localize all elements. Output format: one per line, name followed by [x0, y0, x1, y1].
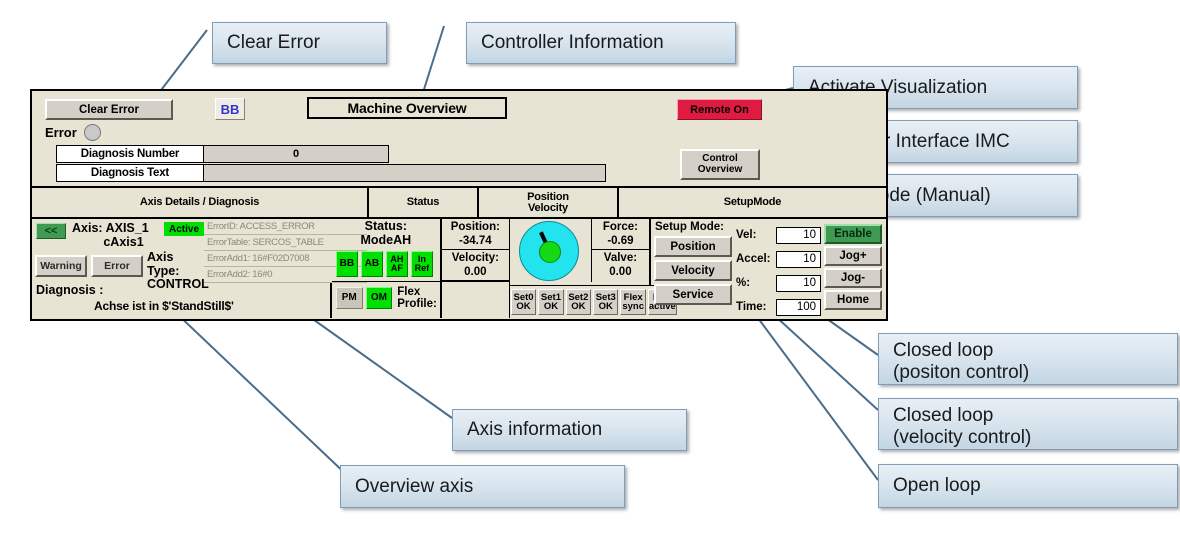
status-led-row-2: PM OM Flex Profile: [332, 281, 440, 310]
vel-input[interactable]: 10 [776, 227, 821, 244]
callout-label-line1: Closed loop [893, 405, 1177, 427]
status-value: ModeAH [332, 234, 440, 248]
force-cell: Force: -0.69 [592, 219, 649, 250]
led-in-ref[interactable]: In Ref [411, 251, 433, 277]
error-indicator-row: Error [45, 124, 101, 141]
gauge-wrap [510, 219, 592, 282]
axis-name-label: Axis: AXIS_1 [72, 221, 149, 235]
diagnosis-text-value [204, 164, 606, 182]
home-button[interactable]: Home [824, 290, 882, 310]
set3-button[interactable]: Set3 OK [593, 289, 618, 315]
hmi-tab-strip: Axis Details / Diagnosis Status Position… [32, 188, 886, 219]
control-overview-button[interactable]: Control Overview [680, 149, 760, 180]
setup-mode-buttons: Setup Mode: Position Velocity Service [654, 221, 736, 318]
percent-input[interactable]: 10 [776, 275, 821, 292]
callout-closed-loop-velocity: Closed loop (velocity control) [878, 398, 1178, 450]
setup-service-button[interactable]: Service [654, 284, 732, 305]
axis-type-label: Axis Type: [147, 251, 205, 278]
status-panel: Status: ModeAH BB AB AH AF In Ref [332, 219, 442, 318]
valve-value: 0.00 [592, 265, 649, 279]
velocity-value: 0.00 [442, 265, 509, 279]
callout-open-loop: Open loop [878, 464, 1178, 508]
control-overview-line1: Control [702, 154, 738, 165]
time-input[interactable]: 100 [776, 299, 821, 316]
flex-profile-line1: Flex [397, 286, 437, 298]
force-value: -0.69 [592, 234, 649, 248]
callout-label: Clear Error [227, 32, 320, 54]
diagnosis-text-label: Diagnosis Text [56, 164, 204, 182]
jog-plus-button[interactable]: Jog+ [824, 246, 882, 266]
diagnosis-number-value: 0 [204, 145, 389, 163]
velocity-cell: Velocity: 0.00 [442, 250, 509, 281]
axis-type-value: CONTROL [147, 278, 205, 292]
callout-label-line2: (positon control) [893, 362, 1177, 384]
axis-details-panel: << Axis: AXIS_1 cAxis1 Active ErrorID: A… [32, 219, 332, 318]
flexsync-line2: sync [622, 302, 644, 312]
callout-closed-loop-position: Closed loop (positon control) [878, 333, 1178, 385]
tab-setup-mode[interactable]: SetupMode [619, 188, 886, 217]
set3-line2: OK [599, 302, 613, 312]
control-overview-line2: Overview [698, 165, 742, 176]
jog-minus-button[interactable]: Jog- [824, 268, 882, 288]
warning-button[interactable]: Warning [35, 255, 87, 277]
percent-label: %: [736, 277, 776, 289]
callout-clear-error: Clear Error [212, 22, 387, 64]
led-inref-line2: Ref [415, 264, 430, 273]
percent-field-row: %: 10 [736, 272, 824, 294]
callout-overview-axis: Overview axis [340, 465, 625, 508]
set2-line2: OK [571, 302, 585, 312]
hmi-body: << Axis: AXIS_1 cAxis1 Active ErrorID: A… [32, 219, 886, 318]
velocity-label: Velocity: [442, 251, 509, 265]
status-led-row-1: BB AB AH AF In Ref [332, 248, 440, 277]
vel-field-row: Vel: 10 [736, 224, 824, 246]
leader-axis-information [293, 305, 452, 418]
set0-line2: OK [516, 302, 530, 312]
flex-sync-button[interactable]: Flex sync [620, 289, 645, 315]
bb-status-indicator[interactable]: BB [215, 98, 245, 120]
callout-label: Axis information [467, 419, 602, 441]
setup-position-button[interactable]: Position [654, 236, 732, 257]
valve-label: Valve: [592, 251, 649, 265]
set1-button[interactable]: Set1 OK [538, 289, 563, 315]
callout-label: Overview axis [355, 476, 473, 498]
setup-parameter-fields: Vel: 10 Accel: 10 %: 10 Time: 100 [736, 221, 824, 318]
position-label: Position: [442, 220, 509, 234]
axis-diagnosis-label: Diagnosis : [36, 283, 103, 297]
accel-input[interactable]: 10 [776, 251, 821, 268]
callout-label-line1: Closed loop [893, 340, 1177, 362]
diagnosis-number-label: Diagnosis Number [56, 145, 204, 163]
led-pm[interactable]: PM [336, 287, 363, 309]
tab-axis-details[interactable]: Axis Details / Diagnosis [32, 188, 369, 217]
axis-instance-label: cAxis1 [72, 235, 197, 249]
status-head: Status: ModeAH [332, 219, 440, 248]
set-buttons-left-spacer [442, 281, 509, 315]
gauge-hub [539, 241, 561, 263]
valve-cell: Valve: 0.00 [592, 250, 649, 281]
callout-axis-information: Axis information [452, 409, 687, 451]
led-ab[interactable]: AB [361, 251, 383, 277]
setup-mode-panel: Setup Mode: Position Velocity Service Ve… [651, 219, 886, 318]
diagnosis-text-row: Diagnosis Text [56, 164, 606, 182]
setup-action-buttons: Enable Jog+ Jog- Home [824, 221, 886, 318]
accel-label: Accel: [736, 253, 776, 265]
callout-label-line2: (velocity control) [893, 427, 1177, 449]
time-field-row: Time: 100 [736, 296, 824, 318]
set1-line2: OK [544, 302, 558, 312]
led-bb[interactable]: BB [336, 251, 358, 277]
setup-mode-title: Setup Mode: [654, 221, 736, 233]
axis-diagnosis-text: Achse ist in $'StandStill$' [94, 299, 234, 313]
enable-button[interactable]: Enable [824, 224, 882, 244]
remote-on-button[interactable]: Remote On [677, 99, 762, 120]
led-om[interactable]: OM [366, 287, 393, 309]
force-label: Force: [592, 220, 649, 234]
position-velocity-values: Position: -34.74 Velocity: 0.00 [442, 219, 510, 318]
diagnosis-table: Diagnosis Number 0 Diagnosis Text [56, 145, 606, 183]
time-label: Time: [736, 301, 776, 313]
tab-posvel-line2: Velocity [527, 203, 569, 214]
led-ah-line2: AF [390, 264, 403, 273]
flex-profile-label: Flex Profile: [395, 286, 437, 310]
error-label: Error [45, 125, 77, 140]
set2-button[interactable]: Set2 OK [566, 289, 591, 315]
position-cell: Position: -34.74 [442, 219, 509, 250]
status-label: Status: [332, 220, 440, 234]
error-button[interactable]: Error [91, 255, 143, 277]
hmi-panel: Clear Error BB Machine Overview Remote O… [30, 89, 888, 321]
tab-posvel-line1: Position [527, 192, 569, 203]
axis-active-badge: Active [164, 222, 204, 236]
tab-status[interactable]: Status [369, 188, 479, 217]
tab-position-velocity[interactable]: Position Velocity [479, 188, 619, 217]
vel-label: Vel: [736, 229, 776, 241]
axis-type-block: Axis Type: CONTROL [147, 251, 205, 292]
hmi-header: Clear Error BB Machine Overview Remote O… [32, 91, 886, 188]
flex-profile-line2: Profile: [397, 298, 437, 310]
clear-error-button[interactable]: Clear Error [45, 99, 173, 120]
diagnosis-number-row: Diagnosis Number 0 [56, 145, 606, 163]
callout-label: Open loop [893, 475, 981, 497]
accel-field-row: Accel: 10 [736, 248, 824, 270]
callout-label: Controller Information [481, 32, 664, 54]
previous-axis-button[interactable]: << [36, 223, 66, 239]
error-led [84, 124, 101, 141]
position-value: -34.74 [442, 234, 509, 248]
set0-button[interactable]: Set0 OK [511, 289, 536, 315]
led-ah-af[interactable]: AH AF [386, 251, 408, 277]
setup-velocity-button[interactable]: Velocity [654, 260, 732, 281]
callout-controller-information: Controller Information [466, 22, 736, 64]
machine-overview-title: Machine Overview [307, 97, 507, 119]
velocity-gauge [519, 221, 579, 281]
position-velocity-panel: Position: -34.74 Velocity: 0.00 Force: [442, 219, 651, 318]
